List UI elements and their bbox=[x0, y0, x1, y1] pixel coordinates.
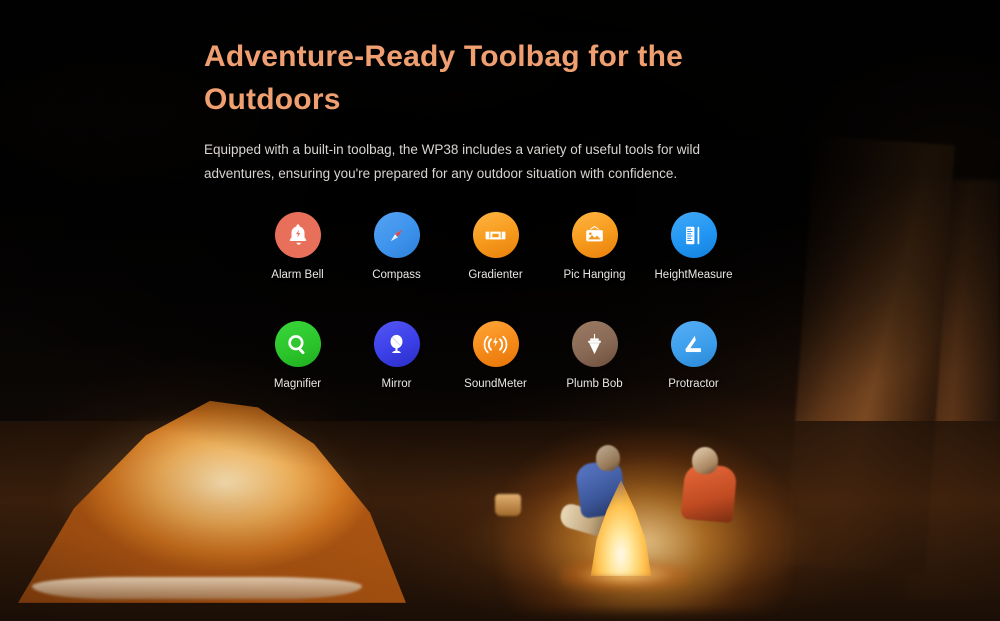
tool-row-1: Alarm Bell Compass bbox=[248, 212, 754, 281]
tool-item-height-measure[interactable]: HeightMeasure bbox=[644, 212, 743, 281]
tool-item-pic-hanging[interactable]: Pic Hanging bbox=[545, 212, 644, 281]
tool-item-compass[interactable]: Compass bbox=[347, 212, 446, 281]
tool-label: Plumb Bob bbox=[566, 378, 622, 390]
tool-label: Magnifier bbox=[274, 378, 321, 390]
tool-item-plumb-bob[interactable]: Plumb Bob bbox=[545, 321, 644, 390]
tool-row-2: Magnifier Mirror bbox=[248, 321, 754, 390]
compass-icon[interactable] bbox=[374, 212, 420, 258]
protractor-icon[interactable] bbox=[671, 321, 717, 367]
sound-meter-icon[interactable] bbox=[473, 321, 519, 367]
tool-label: Protractor bbox=[668, 378, 719, 390]
tool-label: Mirror bbox=[381, 378, 411, 390]
tool-label: Pic Hanging bbox=[563, 269, 625, 281]
mirror-icon[interactable] bbox=[374, 321, 420, 367]
tool-item-magnifier[interactable]: Magnifier bbox=[248, 321, 347, 390]
tool-label: HeightMeasure bbox=[655, 269, 733, 281]
camp-pot bbox=[495, 494, 521, 516]
alarm-bell-icon[interactable] bbox=[275, 212, 321, 258]
tool-label: Compass bbox=[372, 269, 421, 281]
pic-hanging-icon[interactable] bbox=[572, 212, 618, 258]
tool-label: Alarm Bell bbox=[271, 269, 323, 281]
person-left-head bbox=[596, 445, 620, 471]
toolbag-feature-grid: Alarm Bell Compass bbox=[248, 212, 754, 390]
hero-text-block: Adventure-Ready Toolbag for the Outdoors… bbox=[204, 36, 764, 186]
plumb-bob-icon[interactable] bbox=[572, 321, 618, 367]
tool-label: Gradienter bbox=[468, 269, 522, 281]
page-title: Adventure-Ready Toolbag for the Outdoors bbox=[204, 36, 764, 122]
magnifier-icon[interactable] bbox=[275, 321, 321, 367]
tent-groundsheet bbox=[32, 577, 362, 599]
hero-description: Equipped with a built-in toolbag, the WP… bbox=[204, 138, 724, 186]
tool-label: SoundMeter bbox=[464, 378, 527, 390]
tool-item-gradienter[interactable]: Gradienter bbox=[446, 212, 545, 281]
person-right-head bbox=[692, 447, 718, 474]
height-measure-icon[interactable] bbox=[671, 212, 717, 258]
camping-tent bbox=[10, 388, 410, 603]
tool-item-sound-meter[interactable]: SoundMeter bbox=[446, 321, 545, 390]
tool-item-protractor[interactable]: Protractor bbox=[644, 321, 743, 390]
gradienter-icon[interactable] bbox=[473, 212, 519, 258]
tool-item-alarm-bell[interactable]: Alarm Bell bbox=[248, 212, 347, 281]
tool-item-mirror[interactable]: Mirror bbox=[347, 321, 446, 390]
promo-banner: Adventure-Ready Toolbag for the Outdoors… bbox=[0, 0, 1000, 621]
